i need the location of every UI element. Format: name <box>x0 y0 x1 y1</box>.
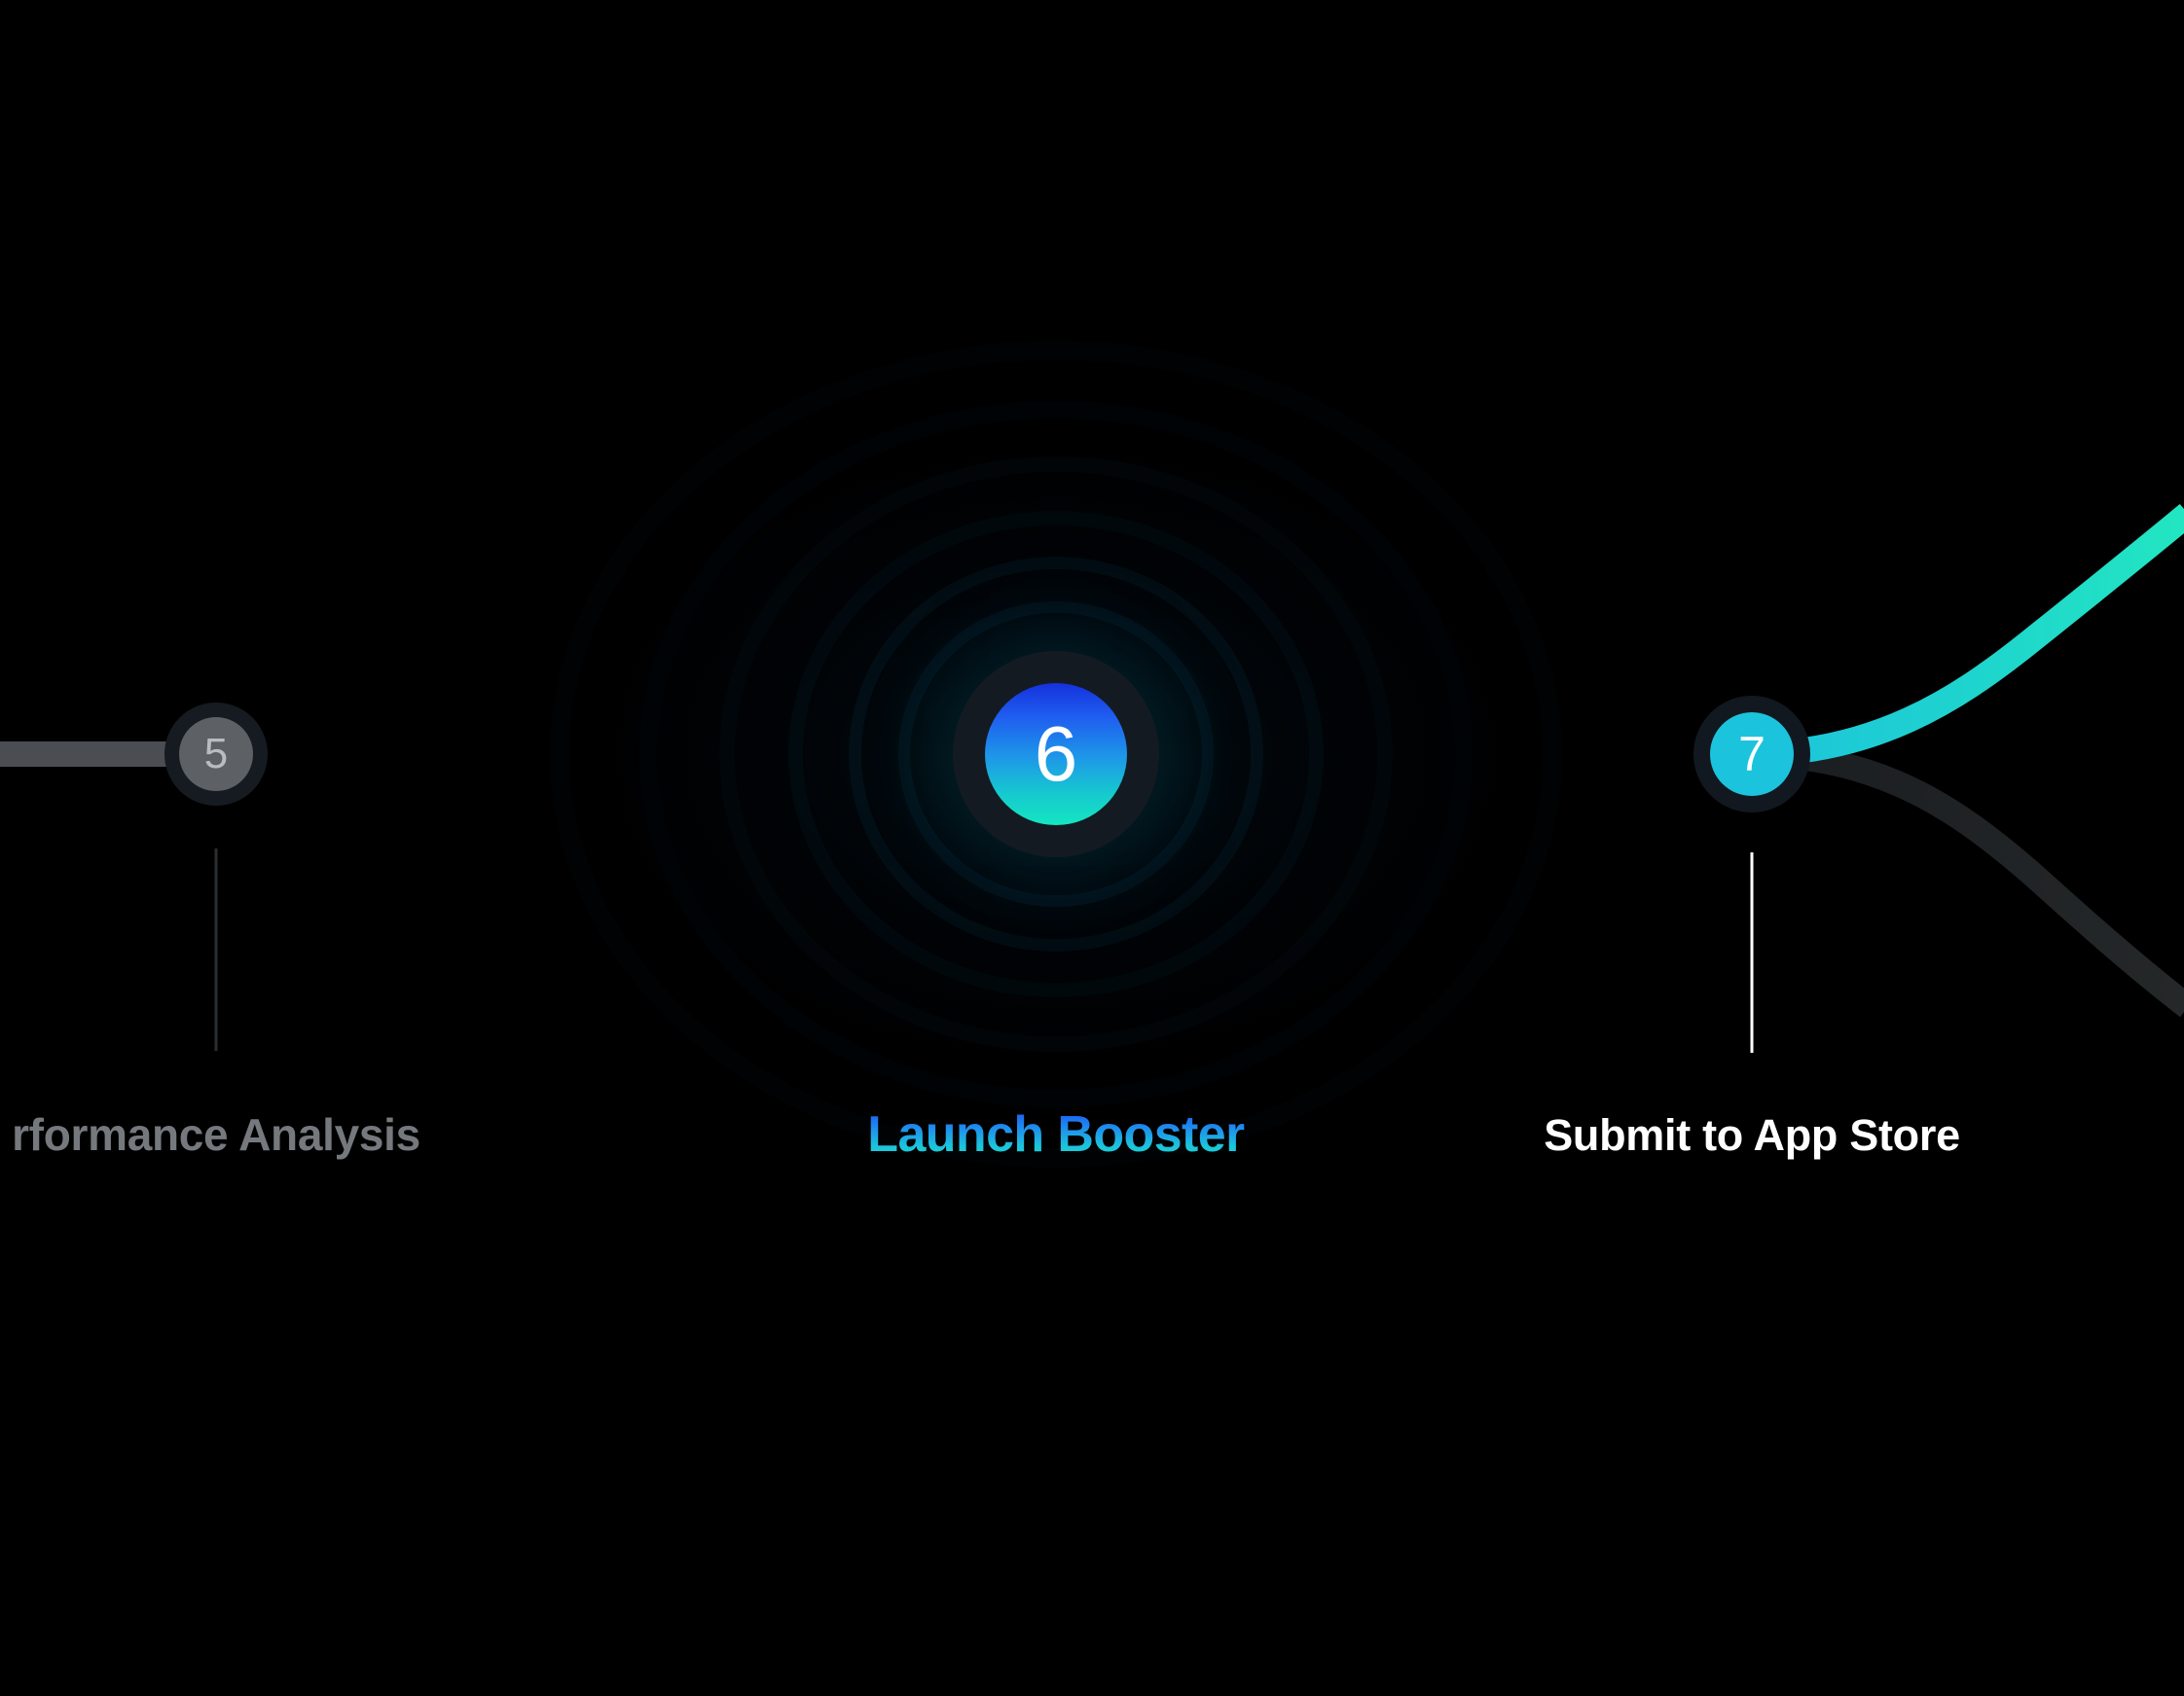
timeline-node-5-stem <box>215 848 218 1051</box>
timeline-node-7[interactable]: 7 <box>1693 696 1810 812</box>
branch-lower-dark <box>1747 754 2184 1007</box>
branch-upper-cyan <box>1747 514 2184 754</box>
timeline-node-7-label: Submit to App Store <box>1544 1113 1960 1157</box>
timeline-canvas: 5 rformance Analysis 6 Launch Booster 7 … <box>0 0 2184 1696</box>
timeline-node-6-number: 6 <box>985 683 1127 825</box>
timeline-node-5[interactable]: 5 <box>164 703 268 806</box>
timeline-node-5-number: 5 <box>179 717 253 791</box>
timeline-node-7-number: 7 <box>1710 712 1794 796</box>
timeline-node-6-label: Launch Booster <box>867 1109 1244 1160</box>
timeline-node-6-active[interactable]: 6 <box>953 651 1159 857</box>
timeline-node-5-label: rformance Analysis <box>12 1112 420 1157</box>
timeline-node-7-stem <box>1751 852 1754 1053</box>
